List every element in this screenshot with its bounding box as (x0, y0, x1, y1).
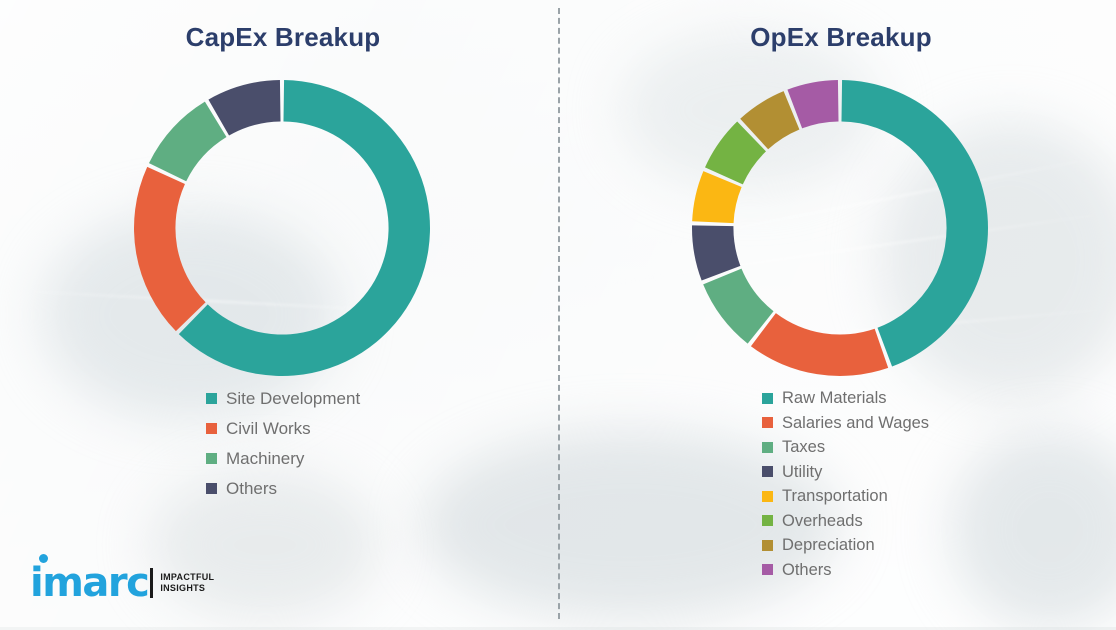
logo-separator (150, 568, 153, 598)
panel-divider (558, 8, 560, 619)
logo-dot-icon (39, 554, 48, 563)
legend-item[interactable]: Utility (762, 464, 929, 481)
legend-item[interactable]: Others (206, 480, 360, 497)
legend-item-label: Site Development (226, 390, 360, 407)
legend-swatch-icon (206, 483, 217, 494)
opex-chart-panel: OpEx Breakup Raw MaterialsSalaries and W… (558, 0, 1116, 627)
legend-item-label: Salaries and Wages (782, 415, 929, 432)
imarc-logo: imarc IMPACTFUL INSIGHTS (30, 563, 214, 603)
legend-swatch-icon (762, 491, 773, 502)
donut-slice[interactable] (751, 313, 888, 376)
legend-item[interactable]: Transportation (762, 488, 929, 505)
legend-swatch-icon (762, 442, 773, 453)
donut-slice[interactable] (841, 80, 988, 367)
capex-chart-title: CapEx Breakup (0, 22, 558, 53)
legend-swatch-icon (762, 564, 773, 575)
legend-item[interactable]: Machinery (206, 450, 360, 467)
legend-item-label: Raw Materials (782, 390, 887, 407)
donut-slice[interactable] (134, 167, 206, 331)
logo-wordmark: imarc (30, 563, 148, 603)
legend-item[interactable]: Overheads (762, 513, 929, 530)
legend-item[interactable]: Civil Works (206, 420, 360, 437)
opex-legend: Raw MaterialsSalaries and WagesTaxesUtil… (762, 390, 929, 586)
logo-tagline: IMPACTFUL INSIGHTS (160, 572, 214, 595)
donut-slice[interactable] (149, 102, 227, 182)
logo-tagline-line2: INSIGHTS (160, 583, 214, 594)
legend-item-label: Machinery (226, 450, 304, 467)
opex-donut-svg (690, 78, 990, 378)
legend-item[interactable]: Raw Materials (762, 390, 929, 407)
capex-donut-chart (132, 78, 432, 378)
legend-item-label: Others (226, 480, 277, 497)
legend-item-label: Utility (782, 464, 822, 481)
legend-swatch-icon (206, 393, 217, 404)
capex-chart-panel: CapEx Breakup Site DevelopmentCivil Work… (0, 0, 558, 627)
legend-item[interactable]: Depreciation (762, 537, 929, 554)
legend-swatch-icon (206, 453, 217, 464)
legend-swatch-icon (762, 466, 773, 477)
legend-item-label: Taxes (782, 439, 825, 456)
legend-swatch-icon (762, 515, 773, 526)
opex-donut-chart (690, 78, 990, 378)
capex-donut-svg (132, 78, 432, 378)
legend-item-label: Civil Works (226, 420, 311, 437)
legend-item-label: Others (782, 562, 832, 579)
legend-item[interactable]: Salaries and Wages (762, 415, 929, 432)
legend-item-label: Transportation (782, 488, 888, 505)
legend-swatch-icon (762, 540, 773, 551)
legend-item[interactable]: Others (762, 562, 929, 579)
legend-swatch-icon (762, 393, 773, 404)
legend-item-label: Overheads (782, 513, 863, 530)
legend-swatch-icon (762, 417, 773, 428)
opex-chart-title: OpEx Breakup (558, 22, 1116, 53)
legend-swatch-icon (206, 423, 217, 434)
capex-legend: Site DevelopmentCivil WorksMachineryOthe… (206, 390, 360, 510)
legend-item[interactable]: Taxes (762, 439, 929, 456)
legend-item-label: Depreciation (782, 537, 875, 554)
legend-item[interactable]: Site Development (206, 390, 360, 407)
logo-tagline-line1: IMPACTFUL (160, 572, 214, 583)
